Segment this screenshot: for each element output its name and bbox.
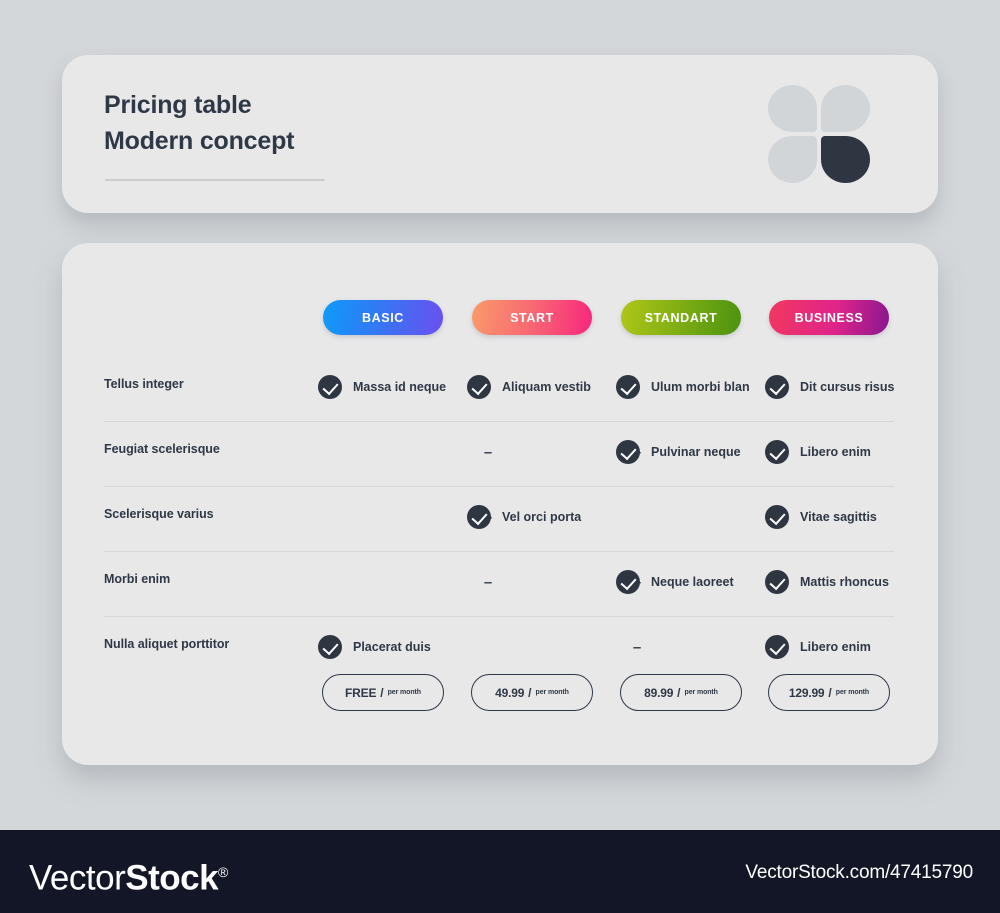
feature-cell-basic-dash: – xyxy=(466,435,510,469)
page-title: Pricing table Modern concept xyxy=(104,87,294,159)
price-amount: 89.99 xyxy=(644,686,673,700)
price-separator: / xyxy=(380,686,383,700)
feature-cell-text: Massa id neque xyxy=(353,380,446,394)
clover-logo xyxy=(768,85,870,183)
check-icon xyxy=(318,375,342,399)
brand-bold-text: Stock xyxy=(125,859,218,898)
check-icon xyxy=(765,570,789,594)
check-icon xyxy=(616,440,640,464)
plan-button-start[interactable]: START xyxy=(472,300,592,335)
clover-petal-bottom-left-icon xyxy=(768,136,817,183)
plan-button-basic[interactable]: BASIC xyxy=(323,300,443,335)
feature-cell-text: Ulum morbi blan xyxy=(651,380,750,394)
title-divider xyxy=(105,179,325,181)
feature-cell-business: Mattis rhoncus xyxy=(765,565,940,599)
price-button-basic[interactable]: FREE / per month xyxy=(322,674,444,711)
feature-cell-text: Vel orci porta xyxy=(502,510,581,524)
price-period: per month xyxy=(388,689,421,696)
feature-cell-business: Libero enim xyxy=(765,435,940,469)
page-title-line-2: Modern concept xyxy=(104,123,294,159)
header-card: Pricing table Modern concept xyxy=(62,55,938,213)
price-separator: / xyxy=(828,686,831,700)
feature-cell-basic: Placerat duis xyxy=(318,630,493,664)
check-icon xyxy=(765,375,789,399)
price-period: per month xyxy=(685,689,718,696)
feature-cell-business: Vitae sagittis xyxy=(765,500,940,534)
table-row: Nulla aliquet porttitor Placerat duis – … xyxy=(104,616,896,681)
feature-cell-business: Libero enim xyxy=(765,630,940,664)
clover-petal-bottom-right-icon xyxy=(821,136,870,183)
pricing-grid: BASIC START STANDART BUSINESS Tellus int… xyxy=(62,243,938,765)
feature-label: Feugiat scelerisque xyxy=(104,442,220,456)
check-icon xyxy=(467,375,491,399)
plan-button-standart[interactable]: STANDART xyxy=(621,300,741,335)
price-button-business[interactable]: 129.99 / per month xyxy=(768,674,890,711)
table-row: Feugiat scelerisque – – Pulvinar neque L… xyxy=(104,421,896,486)
price-separator: / xyxy=(677,686,680,700)
feature-cell-text: Libero enim xyxy=(800,445,871,459)
page-title-line-1: Pricing table xyxy=(104,87,294,123)
price-row: FREE / per month 49.99 / per month 89.99… xyxy=(104,674,896,712)
feature-cell-start: Vel orci porta xyxy=(467,500,642,534)
vectorstock-logo: VectorStock® xyxy=(29,852,228,899)
feature-label: Tellus integer xyxy=(104,377,184,391)
pricing-table-card: BASIC START STANDART BUSINESS Tellus int… xyxy=(62,243,938,765)
table-row: Tellus integer Massa id neque Aliquam ve… xyxy=(104,356,896,421)
feature-cell-text: Placerat duis xyxy=(353,640,431,654)
feature-cell-text: Dit cursus risus xyxy=(800,380,894,394)
watermark-footer: VectorStock® VectorStock.com/47415790 xyxy=(0,830,1000,913)
feature-cell-basic-dash: – xyxy=(466,565,510,599)
price-amount: FREE xyxy=(345,686,376,700)
feature-cell-text: Libero enim xyxy=(800,640,871,654)
table-row: Morbi enim – – Neque laoreet Mattis rhon… xyxy=(104,551,896,616)
table-row: Scelerisque varius – Vel orci porta – Vi… xyxy=(104,486,896,551)
check-icon xyxy=(467,505,491,529)
registered-mark-icon: ® xyxy=(218,864,228,880)
feature-cell-text: Mattis rhoncus xyxy=(800,575,889,589)
check-icon xyxy=(765,505,789,529)
price-amount: 129.99 xyxy=(789,686,825,700)
check-icon xyxy=(765,440,789,464)
price-button-standart[interactable]: 89.99 / per month xyxy=(620,674,742,711)
clover-petal-top-right-icon xyxy=(821,85,870,132)
feature-cell-text: Vitae sagittis xyxy=(800,510,877,524)
check-icon xyxy=(616,375,640,399)
price-amount: 49.99 xyxy=(495,686,524,700)
feature-label: Scelerisque varius xyxy=(104,507,214,521)
check-icon xyxy=(765,635,789,659)
feature-cell-text: Neque laoreet xyxy=(651,575,734,589)
plan-button-business[interactable]: BUSINESS xyxy=(769,300,889,335)
brand-light-text: Vector xyxy=(29,859,125,898)
price-period: per month xyxy=(836,689,869,696)
check-icon xyxy=(318,635,342,659)
footer-url: VectorStock.com/47415790 xyxy=(745,862,973,884)
plan-header-row: BASIC START STANDART BUSINESS xyxy=(104,300,896,336)
feature-cell-text: Pulvinar neque xyxy=(651,445,741,459)
feature-cell-start-dash: – xyxy=(615,630,659,664)
price-period: per month xyxy=(536,689,569,696)
price-separator: / xyxy=(528,686,531,700)
feature-cell-text: Aliquam vestib xyxy=(502,380,591,394)
feature-label: Morbi enim xyxy=(104,572,170,586)
clover-petal-top-left-icon xyxy=(768,85,817,132)
feature-label: Nulla aliquet porttitor xyxy=(104,637,229,651)
check-icon xyxy=(616,570,640,594)
price-button-start[interactable]: 49.99 / per month xyxy=(471,674,593,711)
feature-cell-business: Dit cursus risus xyxy=(765,370,940,404)
